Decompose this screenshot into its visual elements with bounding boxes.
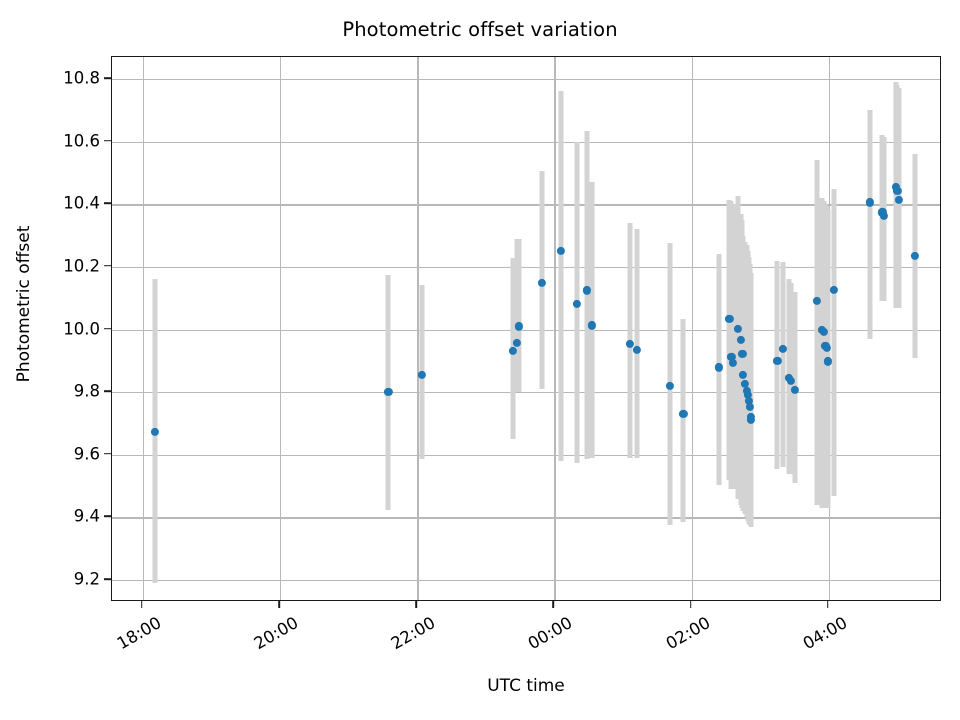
- scatter-point: [384, 388, 392, 396]
- y-axis-tick-mark: [104, 578, 111, 580]
- scatter-point: [910, 252, 918, 260]
- x-axis-tick-label: 02:00: [662, 613, 713, 653]
- y-axis-tick-label: 9.2: [74, 570, 100, 589]
- errorbar: [559, 91, 564, 461]
- scatter-point: [573, 299, 581, 307]
- y-axis-tick-mark: [104, 516, 111, 518]
- gridline-horizontal: [112, 142, 940, 143]
- scatter-point: [666, 382, 674, 390]
- y-axis-tick-mark: [104, 202, 111, 204]
- gridline-vertical: [143, 57, 144, 600]
- y-axis-tick-mark: [104, 453, 111, 455]
- y-axis-tick-label: 10.8: [63, 68, 100, 87]
- x-axis-tick-label: 00:00: [525, 613, 576, 653]
- errorbar: [780, 262, 785, 467]
- y-axis-tick-label: 10.2: [63, 256, 100, 275]
- errorbar: [681, 319, 686, 523]
- scatter-point: [557, 247, 565, 255]
- x-axis-tick-label: 22:00: [388, 613, 439, 653]
- errorbar: [867, 110, 872, 339]
- y-axis-tick-mark: [104, 390, 111, 392]
- scatter-point: [588, 321, 596, 329]
- scatter-point: [151, 428, 159, 436]
- y-axis-tick-label: 10.4: [63, 194, 100, 213]
- x-axis-tick-mark: [827, 601, 829, 608]
- y-axis-tick-label: 10.6: [63, 131, 100, 150]
- y-axis-tick-label: 9.4: [74, 507, 100, 526]
- scatter-point: [747, 416, 755, 424]
- gridline-horizontal: [112, 517, 940, 518]
- gridline-horizontal: [112, 580, 940, 581]
- y-axis-tick-label: 10.0: [63, 319, 100, 338]
- x-axis-tick-mark: [415, 601, 417, 608]
- x-axis-tick-mark: [690, 601, 692, 608]
- errorbar: [584, 131, 589, 460]
- gridline-vertical: [280, 57, 281, 600]
- errorbar: [832, 189, 837, 496]
- errorbar: [590, 182, 595, 458]
- x-axis-title: UTC time: [111, 676, 941, 696]
- errorbar: [634, 229, 639, 458]
- y-axis-tick-mark: [104, 265, 111, 267]
- y-axis-tick-mark: [104, 328, 111, 330]
- page-title: Photometric offset variation: [0, 18, 960, 41]
- errorbar: [730, 204, 735, 489]
- scatter-point: [880, 212, 888, 220]
- plot-area[interactable]: [111, 56, 941, 601]
- scatter-point: [418, 371, 426, 379]
- scatter-point: [895, 196, 903, 204]
- x-axis-tick-mark: [278, 601, 280, 608]
- scatter-point: [538, 278, 546, 286]
- scatter-point: [633, 345, 641, 353]
- gridline-vertical: [692, 57, 693, 600]
- y-axis-tick-mark: [104, 140, 111, 142]
- gridline-horizontal: [112, 79, 940, 80]
- errorbar: [775, 261, 780, 469]
- x-axis-tick-mark: [553, 601, 555, 608]
- gridline-vertical: [417, 57, 418, 600]
- scatter-point: [715, 363, 723, 371]
- scatter-point: [830, 286, 838, 294]
- y-axis-title: Photometric offset: [14, 174, 34, 434]
- figure-canvas: Photometric offset variation 9.29.49.69.…: [0, 0, 960, 720]
- x-axis-tick-label: 20:00: [251, 613, 302, 653]
- y-axis-tick-label: 9.6: [74, 444, 100, 463]
- y-axis-tick-mark: [104, 77, 111, 79]
- errorbar: [516, 239, 521, 392]
- gridline-vertical: [554, 57, 555, 600]
- scatter-point: [679, 410, 687, 418]
- x-axis-tick-label: 18:00: [114, 613, 165, 653]
- x-axis-tick-mark: [141, 601, 143, 608]
- y-axis-tick-label: 9.8: [74, 382, 100, 401]
- x-axis-tick-label: 04:00: [800, 613, 851, 653]
